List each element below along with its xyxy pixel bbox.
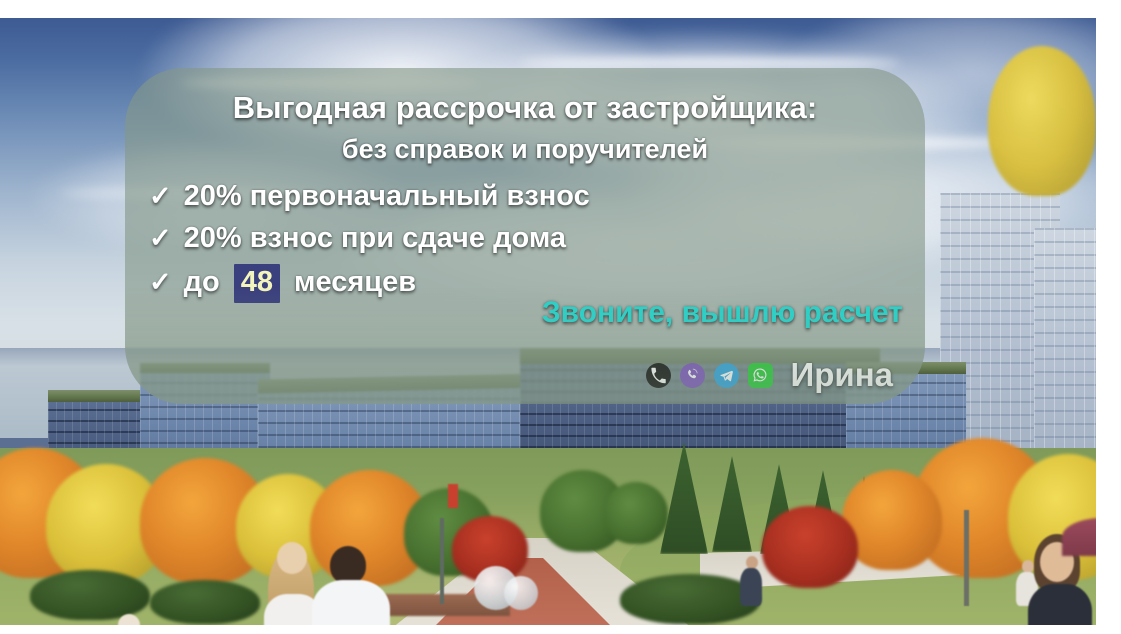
list-item-label: 20% первоначальный взнос bbox=[184, 180, 590, 213]
term-months-highlight: 48 bbox=[234, 264, 280, 303]
list-item: ✓ 20% первоначальный взнос bbox=[149, 180, 590, 213]
list-item: ✓ 20% взнос при сдаче дома bbox=[149, 222, 590, 255]
sculpture-sphere bbox=[504, 576, 538, 610]
tree bbox=[604, 482, 668, 544]
check-icon: ✓ bbox=[149, 225, 172, 252]
subtitle: без справок и поручителей bbox=[125, 134, 925, 165]
contact-row: Ирина bbox=[646, 356, 893, 394]
shrub bbox=[30, 570, 150, 620]
frame-band-top bbox=[0, 0, 1121, 18]
contact-name: Ирина bbox=[791, 356, 893, 394]
call-to-action-text: Звоните, вышлю расчет bbox=[542, 296, 903, 330]
offer-card: Выгодная рассрочка от застройщика: без с… bbox=[125, 68, 925, 404]
lamp-post bbox=[964, 510, 969, 606]
lamp-post bbox=[440, 518, 444, 604]
list-item: ✓ до 48 месяцев bbox=[149, 264, 590, 303]
tree bbox=[762, 506, 858, 588]
shrub bbox=[620, 574, 760, 624]
list-item-label: 20% взнос при сдаче дома bbox=[184, 222, 566, 255]
check-icon: ✓ bbox=[149, 269, 172, 296]
viber-icon[interactable] bbox=[680, 363, 705, 388]
benefits-list: ✓ 20% первоначальный взнос ✓ 20% взнос п… bbox=[149, 180, 590, 312]
cloud-streak bbox=[520, 58, 900, 68]
advertisement-banner: Выгодная рассрочка от застройщика: без с… bbox=[0, 0, 1121, 634]
flag bbox=[448, 484, 458, 508]
list-item-prefix: до bbox=[184, 266, 220, 299]
check-icon: ✓ bbox=[149, 183, 172, 210]
tree bbox=[988, 46, 1096, 196]
list-item-suffix: месяцев bbox=[294, 266, 416, 299]
phone-icon[interactable] bbox=[646, 363, 671, 388]
frame-band-bottom bbox=[0, 625, 1121, 634]
whatsapp-icon[interactable] bbox=[748, 363, 773, 388]
page-title: Выгодная рассрочка от застройщика: bbox=[125, 90, 925, 126]
telegram-icon[interactable] bbox=[714, 363, 739, 388]
frame-band-right bbox=[1096, 0, 1121, 634]
shrub bbox=[150, 580, 260, 624]
